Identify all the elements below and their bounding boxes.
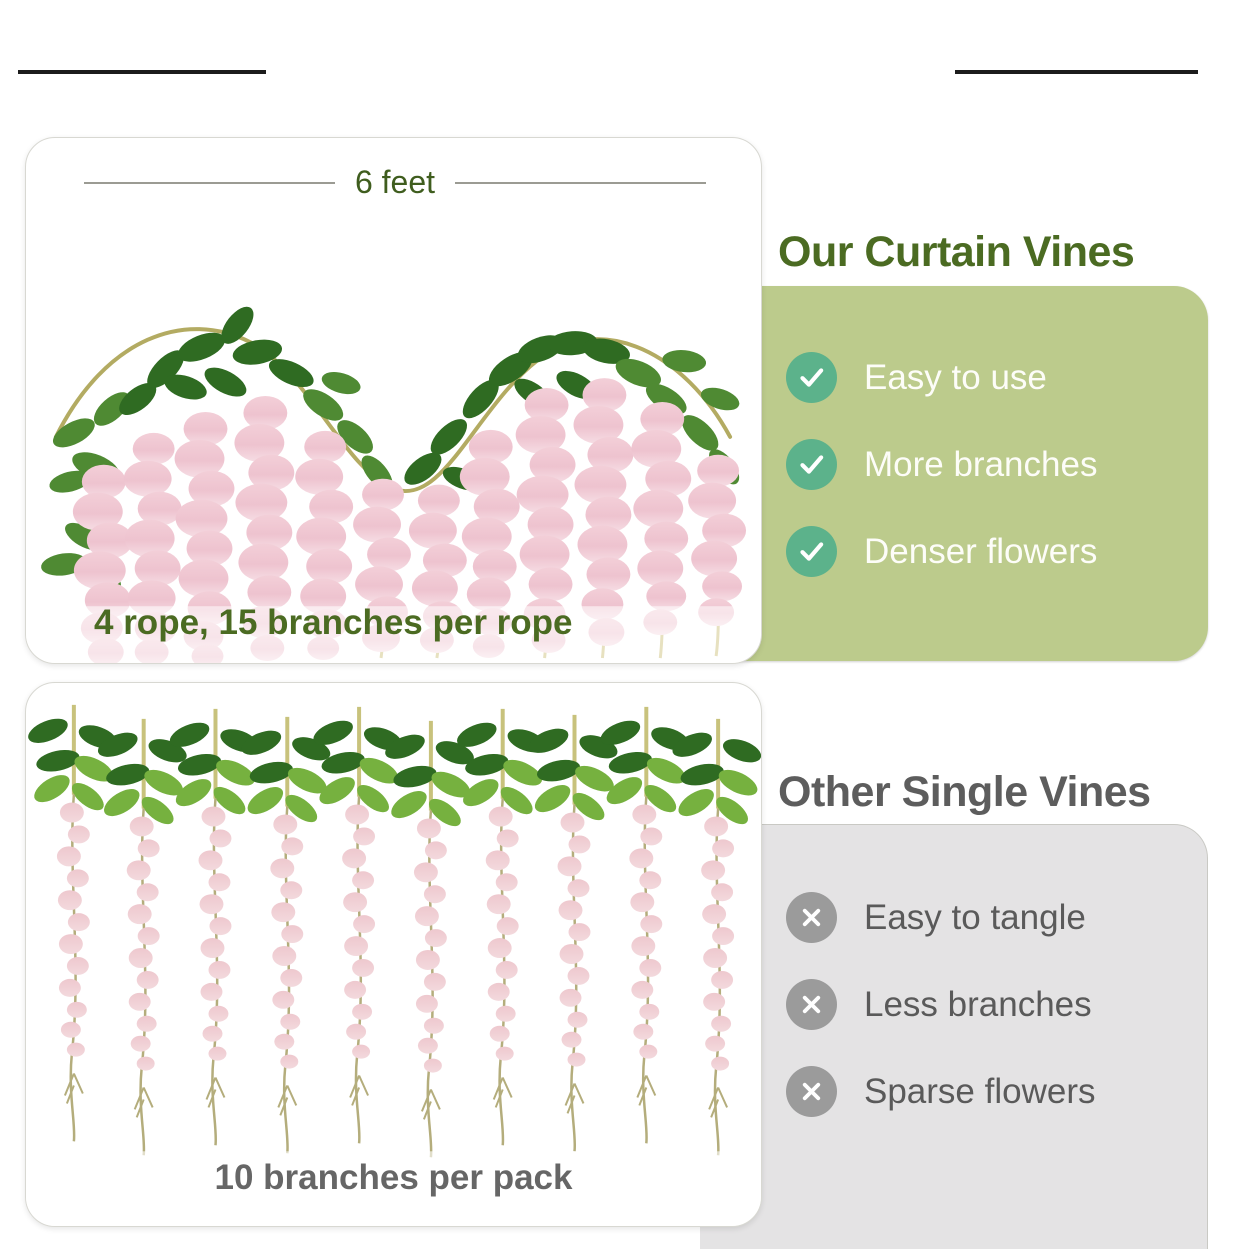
feature-label: Easy to use — [864, 358, 1047, 398]
feature-label: More branches — [864, 445, 1097, 485]
our-vines-heading: Our Curtain Vines — [778, 228, 1134, 277]
top-card-caption: 4 rope, 15 branches per rope — [94, 603, 573, 643]
single-vines-artwork — [26, 683, 761, 1226]
measure-line-right — [455, 182, 706, 184]
feature-row: More branches — [786, 421, 1216, 508]
bottom-card-caption: 10 branches per pack — [26, 1158, 761, 1198]
feature-label: Sparse flowers — [864, 1072, 1095, 1112]
other-vines-card: 10 branches per pack — [25, 682, 762, 1227]
feature-row: Denser flowers — [786, 508, 1216, 595]
other-vines-heading: Other Single Vines — [778, 768, 1151, 817]
cross-circle-icon — [786, 979, 837, 1030]
feature-row: Sparse flowers — [786, 1048, 1216, 1135]
other-vines-feature-list: Easy to tangle Less branches Sparse flow… — [786, 874, 1216, 1135]
feature-row: Easy to use — [786, 334, 1216, 421]
cross-circle-icon — [786, 892, 837, 943]
check-circle-icon — [786, 526, 837, 577]
feature-label: Denser flowers — [864, 532, 1097, 572]
wisteria-garland-artwork — [26, 138, 761, 663]
top-rule-left — [18, 70, 266, 74]
cross-circle-icon — [786, 1066, 837, 1117]
infographic-root: 6 feet 4 rope, 15 branches per rope — [0, 0, 1249, 1249]
feature-row: Less branches — [786, 961, 1216, 1048]
feature-label: Easy to tangle — [864, 898, 1086, 938]
measure-line-left — [84, 182, 335, 184]
our-vines-card: 6 feet 4 rope, 15 branches per rope — [25, 137, 762, 664]
feature-row: Easy to tangle — [786, 874, 1216, 961]
length-measure: 6 feet — [84, 164, 706, 201]
our-vines-feature-list: Easy to use More branches Denser flowers — [786, 334, 1216, 595]
check-circle-icon — [786, 352, 837, 403]
feature-label: Less branches — [864, 985, 1092, 1025]
top-rule-right — [955, 70, 1198, 74]
measure-label: 6 feet — [349, 164, 441, 201]
check-circle-icon — [786, 439, 837, 490]
